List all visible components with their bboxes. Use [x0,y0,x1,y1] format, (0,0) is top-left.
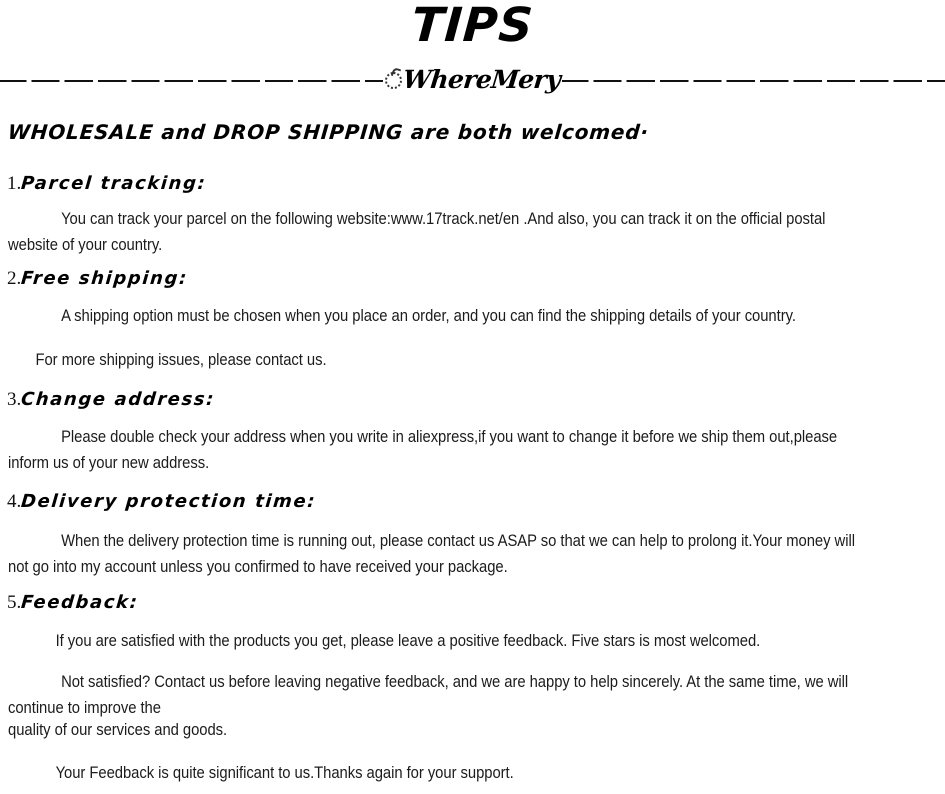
divider-line-left [0,80,383,82]
section-2-paragraph-1: A shipping option must be chosen when yo… [8,303,857,329]
section-5-paragraph-4: Your Feedback is quite significant to us… [8,760,857,786]
section-3-paragraph-1: Please double check your address when yo… [8,424,857,476]
section-5-paragraph-2: Not satisfied? Contact us before leaving… [8,669,857,721]
section-1-paragraph-1: You can track your parcel on the followi… [8,206,857,258]
brand-name: WhereMery [401,66,561,94]
section-4-paragraph-1: When the delivery protection time is run… [8,528,857,580]
section-5-paragraph-1: If you are satisfied with the products y… [8,628,857,654]
section-number-3: 3. [7,389,21,410]
section-title-2: Free shipping: [20,267,189,291]
section-title-4: Delivery protection time: [20,490,317,514]
section-number-5: 5. [7,592,21,613]
brand-divider: WhereMery [0,62,945,98]
brand-logo: WhereMery [383,66,562,94]
section-heading-5: 5. Feedback: [7,591,139,616]
section-heading-1: 1.Parcel tracking: [7,172,207,197]
page-title: TIPS [0,0,945,52]
section-number-4: 4. [7,491,21,512]
section-title-3: Change address: [20,388,216,412]
section-5-paragraph-3: quality of our services and goods. [8,717,857,743]
section-2-paragraph-2: For more shipping issues, please contact… [8,347,857,373]
cherry-loop-icon [385,72,402,89]
title-block: TIPS [0,0,945,52]
section-heading-2: 2.Free shipping: [7,267,188,292]
section-title-5: Feedback: [20,591,140,615]
section-number-2: 2. [7,268,21,289]
section-title-1: Parcel tracking: [20,172,207,196]
lead-statement: WHOLESALE and DROP SHIPPING are both wel… [7,120,650,144]
section-number-1: 1. [7,173,21,194]
divider-line-right [562,80,945,82]
section-heading-4: 4. Delivery protection time: [7,490,316,515]
tips-document-page: TIPS WhereMery WHOLESALE and DROP SHIPPI… [0,0,945,794]
section-heading-3: 3. Change address: [7,388,215,413]
